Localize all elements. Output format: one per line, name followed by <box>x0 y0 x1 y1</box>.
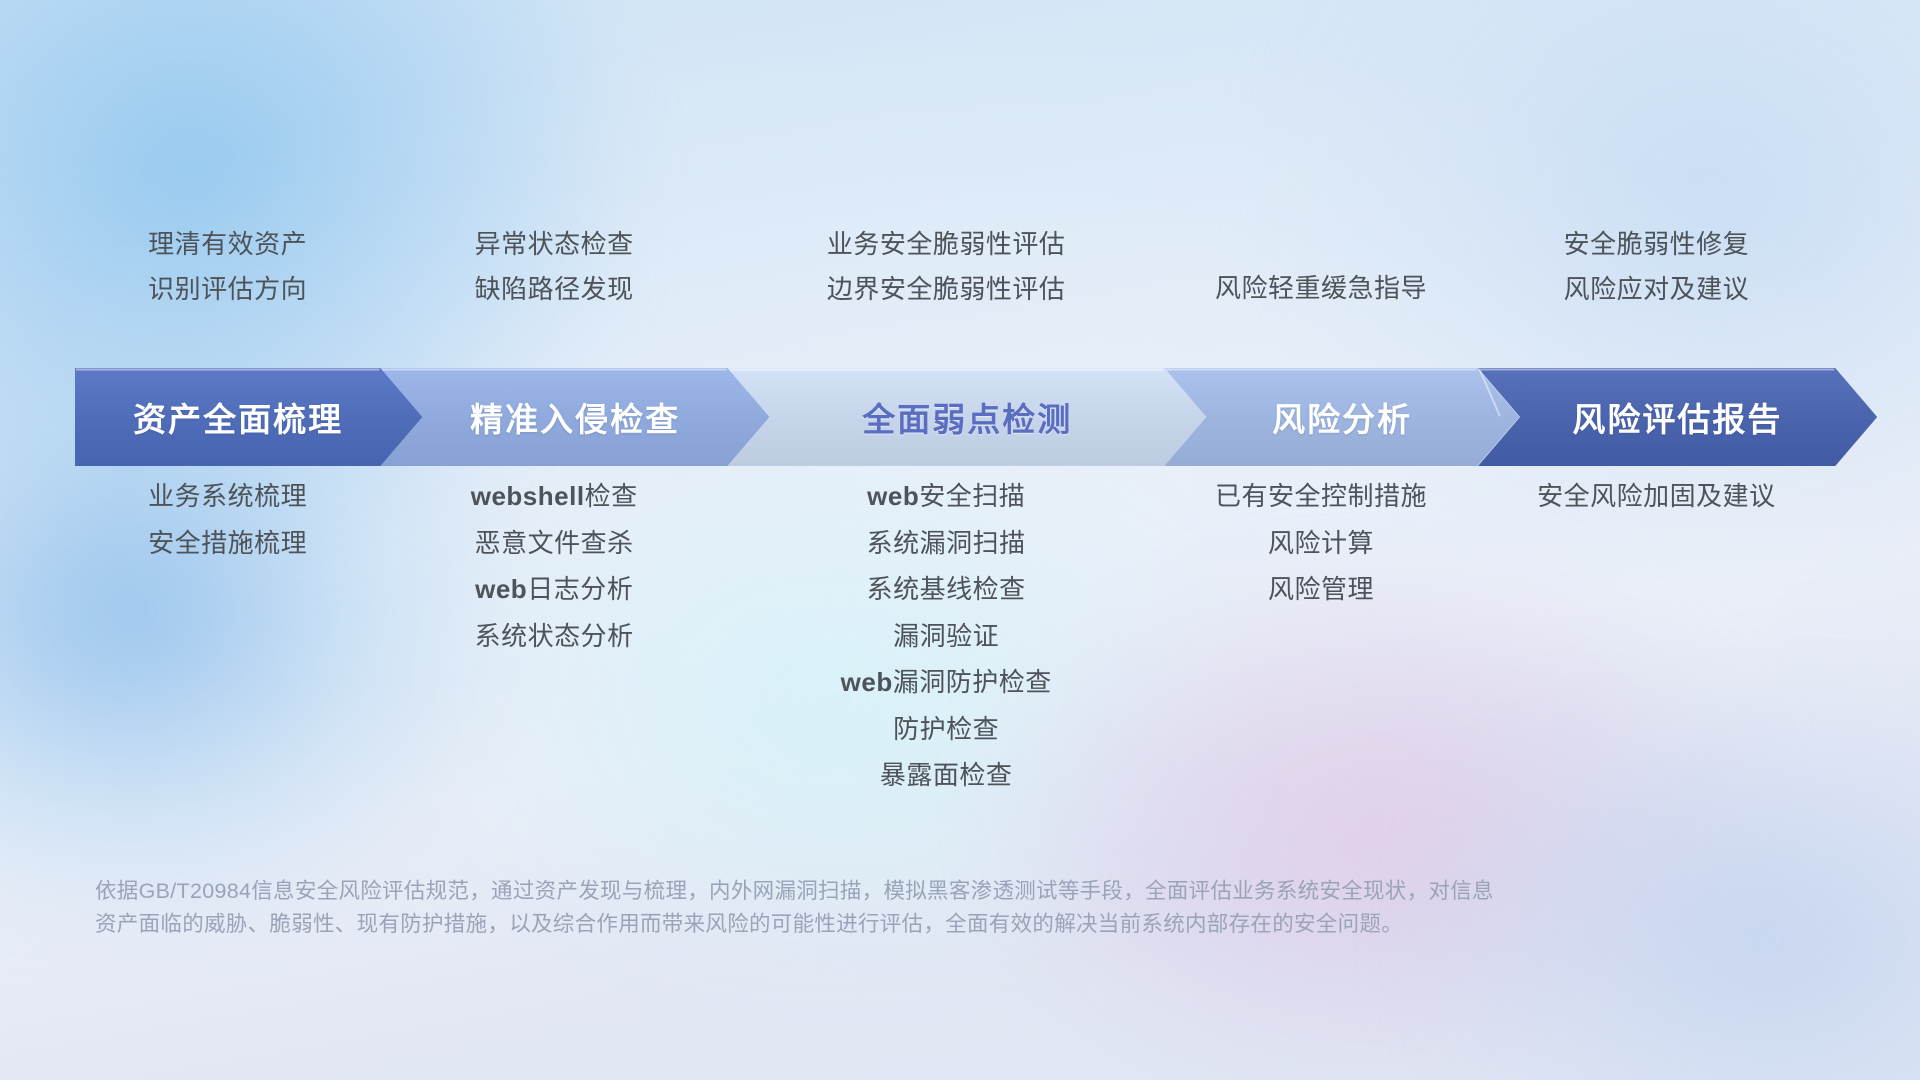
stage-top-labels-3: 业务安全脆弱性评估边界安全脆弱性评估 <box>728 228 1164 348</box>
stage-bottom-item: 安全风险加固及建议 <box>1537 480 1776 513</box>
stage-top-labels-4: 风险轻重缓急指导 <box>1164 228 1477 348</box>
stage-bottom-item-prefix: web <box>841 667 893 697</box>
stage-label-2: 精准入侵检查 <box>470 393 680 441</box>
process-diagram: 理清有效资产识别评估方向异常状态检查缺陷路径发现业务安全脆弱性评估边界安全脆弱性… <box>0 0 1920 1080</box>
stage-label-5: 风险评估报告 <box>1572 393 1782 441</box>
stage-bottom-item-text: 日志分析 <box>527 574 633 604</box>
stage-bottom-item: web日志分析 <box>475 573 633 606</box>
stage-bottom-item: 已有安全控制措施 <box>1215 480 1427 513</box>
stage-bottom-item: 恶意文件查杀 <box>475 527 634 560</box>
stage-bottom-item: 系统基线检查 <box>867 573 1026 606</box>
stage-bottom-item: 防护检查 <box>893 713 999 746</box>
process-stage-5[interactable]: 风险评估报告 <box>1478 368 1877 466</box>
stage-top-item: 业务安全脆弱性评估 <box>827 228 1066 261</box>
stage-label-3: 全面弱点检测 <box>862 393 1072 441</box>
stage-top-item: 理清有效资产 <box>148 228 307 261</box>
stage-bottom-item: 系统漏洞扫描 <box>867 527 1026 560</box>
stage-bottom-item: 暴露面检查 <box>880 759 1013 792</box>
stage-bottom-item-prefix: webshell <box>471 481 585 511</box>
stage-top-item: 安全脆弱性修复 <box>1564 228 1750 261</box>
stage-bottom-labels-3: web安全扫描系统漏洞扫描系统基线检查漏洞验证web漏洞防护检查防护检查暴露面检… <box>728 480 1164 810</box>
process-stage-1[interactable]: 资产全面梳理 <box>75 368 422 466</box>
stage-bottom-item: 安全措施梳理 <box>148 527 307 560</box>
stage-top-item: 识别评估方向 <box>148 273 307 306</box>
stage-bottom-item: webshell检查 <box>471 480 638 513</box>
stage-label-1: 资产全面梳理 <box>133 393 343 441</box>
stage-bottom-labels-2: webshell检查恶意文件查杀web日志分析系统状态分析 <box>380 480 728 810</box>
stage-top-item: 异常状态检查 <box>475 228 634 261</box>
stage-bottom-labels-row: 业务系统梳理安全措施梳理webshell检查恶意文件查杀web日志分析系统状态分… <box>75 480 1855 810</box>
stage-top-item: 边界安全脆弱性评估 <box>827 273 1066 306</box>
stage-bottom-item: 风险计算 <box>1268 527 1374 560</box>
stage-bottom-item-text: 安全扫描 <box>919 481 1025 511</box>
footer-description: 依据GB/T20984信息安全风险评估规范，通过资产发现与梳理，内外网漏洞扫描，… <box>95 875 1725 942</box>
stage-bottom-item: web漏洞防护检查 <box>841 666 1052 699</box>
stage-top-item: 风险应对及建议 <box>1564 273 1750 306</box>
footer-line-2: 资产面临的威胁、脆弱性、现有防护措施，以及综合作用而带来风险的可能性进行评估，全… <box>95 908 1725 941</box>
stage-top-labels-row: 理清有效资产识别评估方向异常状态检查缺陷路径发现业务安全脆弱性评估边界安全脆弱性… <box>75 228 1855 348</box>
process-stage-3[interactable]: 全面弱点检测 <box>728 368 1206 466</box>
stage-bottom-labels-5: 安全风险加固及建议 <box>1478 480 1835 810</box>
stage-top-item: 缺陷路径发现 <box>475 273 634 306</box>
footer-line-1: 依据GB/T20984信息安全风险评估规范，通过资产发现与梳理，内外网漏洞扫描，… <box>95 875 1725 908</box>
process-stage-4[interactable]: 风险分析 <box>1164 368 1519 466</box>
stage-bottom-item: 系统状态分析 <box>475 620 634 653</box>
stage-bottom-labels-1: 业务系统梳理安全措施梳理 <box>75 480 380 810</box>
stage-top-labels-2: 异常状态检查缺陷路径发现 <box>380 228 728 348</box>
stage-bottom-item-prefix: web <box>475 574 527 604</box>
stage-bottom-item: 业务系统梳理 <box>148 480 307 513</box>
stage-label-4: 风险分析 <box>1272 393 1412 441</box>
stage-bottom-item-text: 漏洞防护检查 <box>893 667 1052 697</box>
process-stage-2[interactable]: 精准入侵检查 <box>380 368 770 466</box>
stage-top-labels-1: 理清有效资产识别评估方向 <box>75 228 380 348</box>
stage-top-labels-5: 安全脆弱性修复风险应对及建议 <box>1478 228 1835 348</box>
stage-bottom-labels-4: 已有安全控制措施风险计算风险管理 <box>1164 480 1477 810</box>
stage-bottom-item: 漏洞验证 <box>893 620 999 653</box>
stage-bottom-item: 风险管理 <box>1268 573 1374 606</box>
process-chevron-band: 资产全面梳理精准入侵检查全面弱点检测风险分析风险评估报告 <box>75 368 1835 466</box>
stage-bottom-item-prefix: web <box>867 481 919 511</box>
stage-bottom-item-text: 检查 <box>585 481 638 511</box>
stage-top-item: 风险轻重缓急指导 <box>1215 272 1427 305</box>
stage-bottom-item: web安全扫描 <box>867 480 1025 513</box>
